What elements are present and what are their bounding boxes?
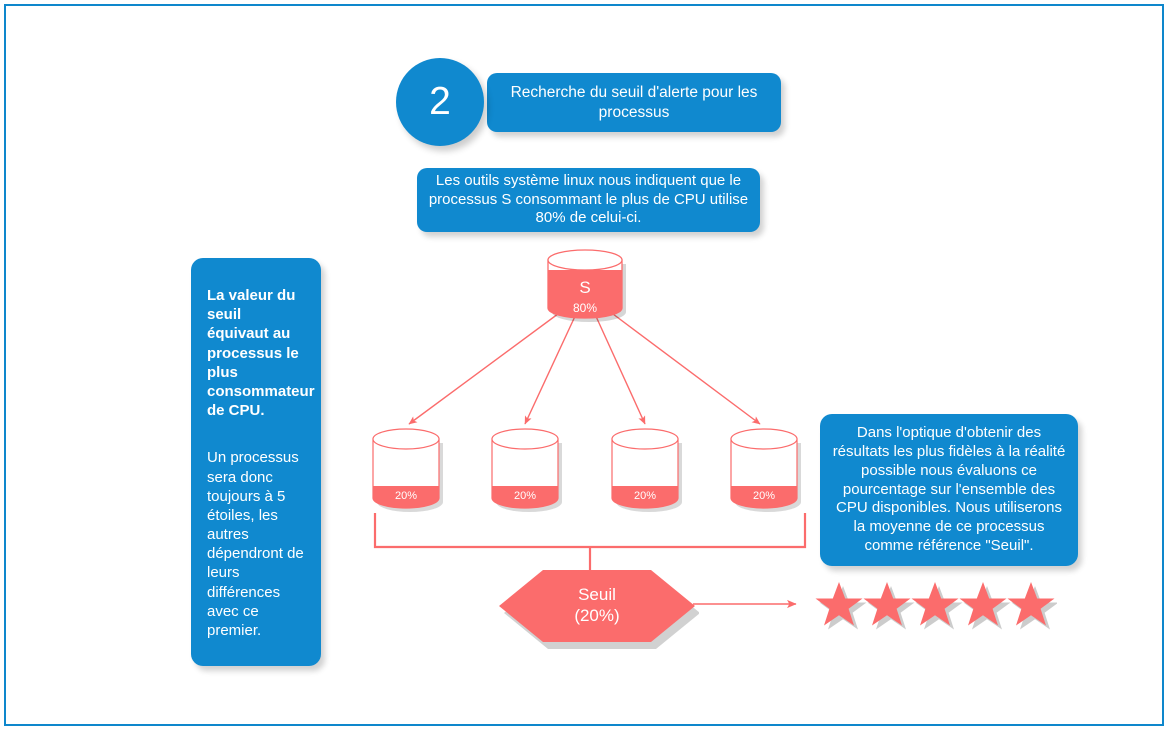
- star-icon: [960, 582, 1011, 630]
- cpu-cylinder: 20%: [610, 428, 680, 510]
- left-panel-paragraph-2: Un processus sera donc toujours à 5 étoi…: [207, 448, 305, 640]
- intro-callout-box: Les outils système linux nous indiquent …: [417, 168, 760, 232]
- star-icon: [864, 582, 915, 630]
- star-icon: [1008, 582, 1058, 630]
- step-number-badge: 2: [396, 58, 484, 146]
- cpu-cylinder-shape: [729, 428, 799, 510]
- cpu-cylinder-shape: [610, 428, 680, 510]
- right-panel-text: Dans l'optique d'obtenir des résultats l…: [830, 424, 1068, 556]
- star-icon: [912, 582, 963, 630]
- threshold-value: (20%): [574, 606, 619, 627]
- threshold-hexagon-text: Seuil (20%): [499, 567, 695, 645]
- step-number-text: 2: [429, 80, 451, 124]
- source-cylinder-shape: [546, 250, 624, 318]
- cpu-cylinder: 20%: [371, 428, 441, 510]
- aggregation-bracket: [375, 513, 805, 570]
- diagram-canvas: 2 Recherche du seuil d'alerte pour les p…: [0, 0, 1170, 732]
- intro-callout-text: Les outils système linux nous indiquent …: [427, 172, 750, 228]
- cpu-cylinder-shape: [490, 428, 560, 510]
- section-title-text: Recherche du seuil d'alerte pour les pro…: [499, 83, 769, 122]
- cpu-cylinder-shape: [371, 428, 441, 510]
- left-panel-spacer: [207, 420, 305, 448]
- threshold-label: Seuil: [578, 585, 616, 606]
- distribution-arrows: [409, 308, 760, 424]
- right-explanation-panel: Dans l'optique d'obtenir des résultats l…: [820, 414, 1078, 566]
- section-title-box: Recherche du seuil d'alerte pour les pro…: [487, 73, 781, 132]
- threshold-hexagon: Seuil (20%): [499, 567, 695, 645]
- rating-stars-shape: [814, 578, 1057, 630]
- left-panel-paragraph-1: La valeur du seuil équivaut au processus…: [207, 286, 305, 420]
- cpu-cylinder: 20%: [729, 428, 799, 510]
- star-icon: [816, 582, 867, 630]
- left-explanation-panel: La valeur du seuil équivaut au processus…: [191, 258, 321, 666]
- source-cylinder-S: S 80%: [546, 250, 624, 318]
- rating-stars: [814, 578, 1057, 630]
- cpu-cylinder: 20%: [490, 428, 560, 510]
